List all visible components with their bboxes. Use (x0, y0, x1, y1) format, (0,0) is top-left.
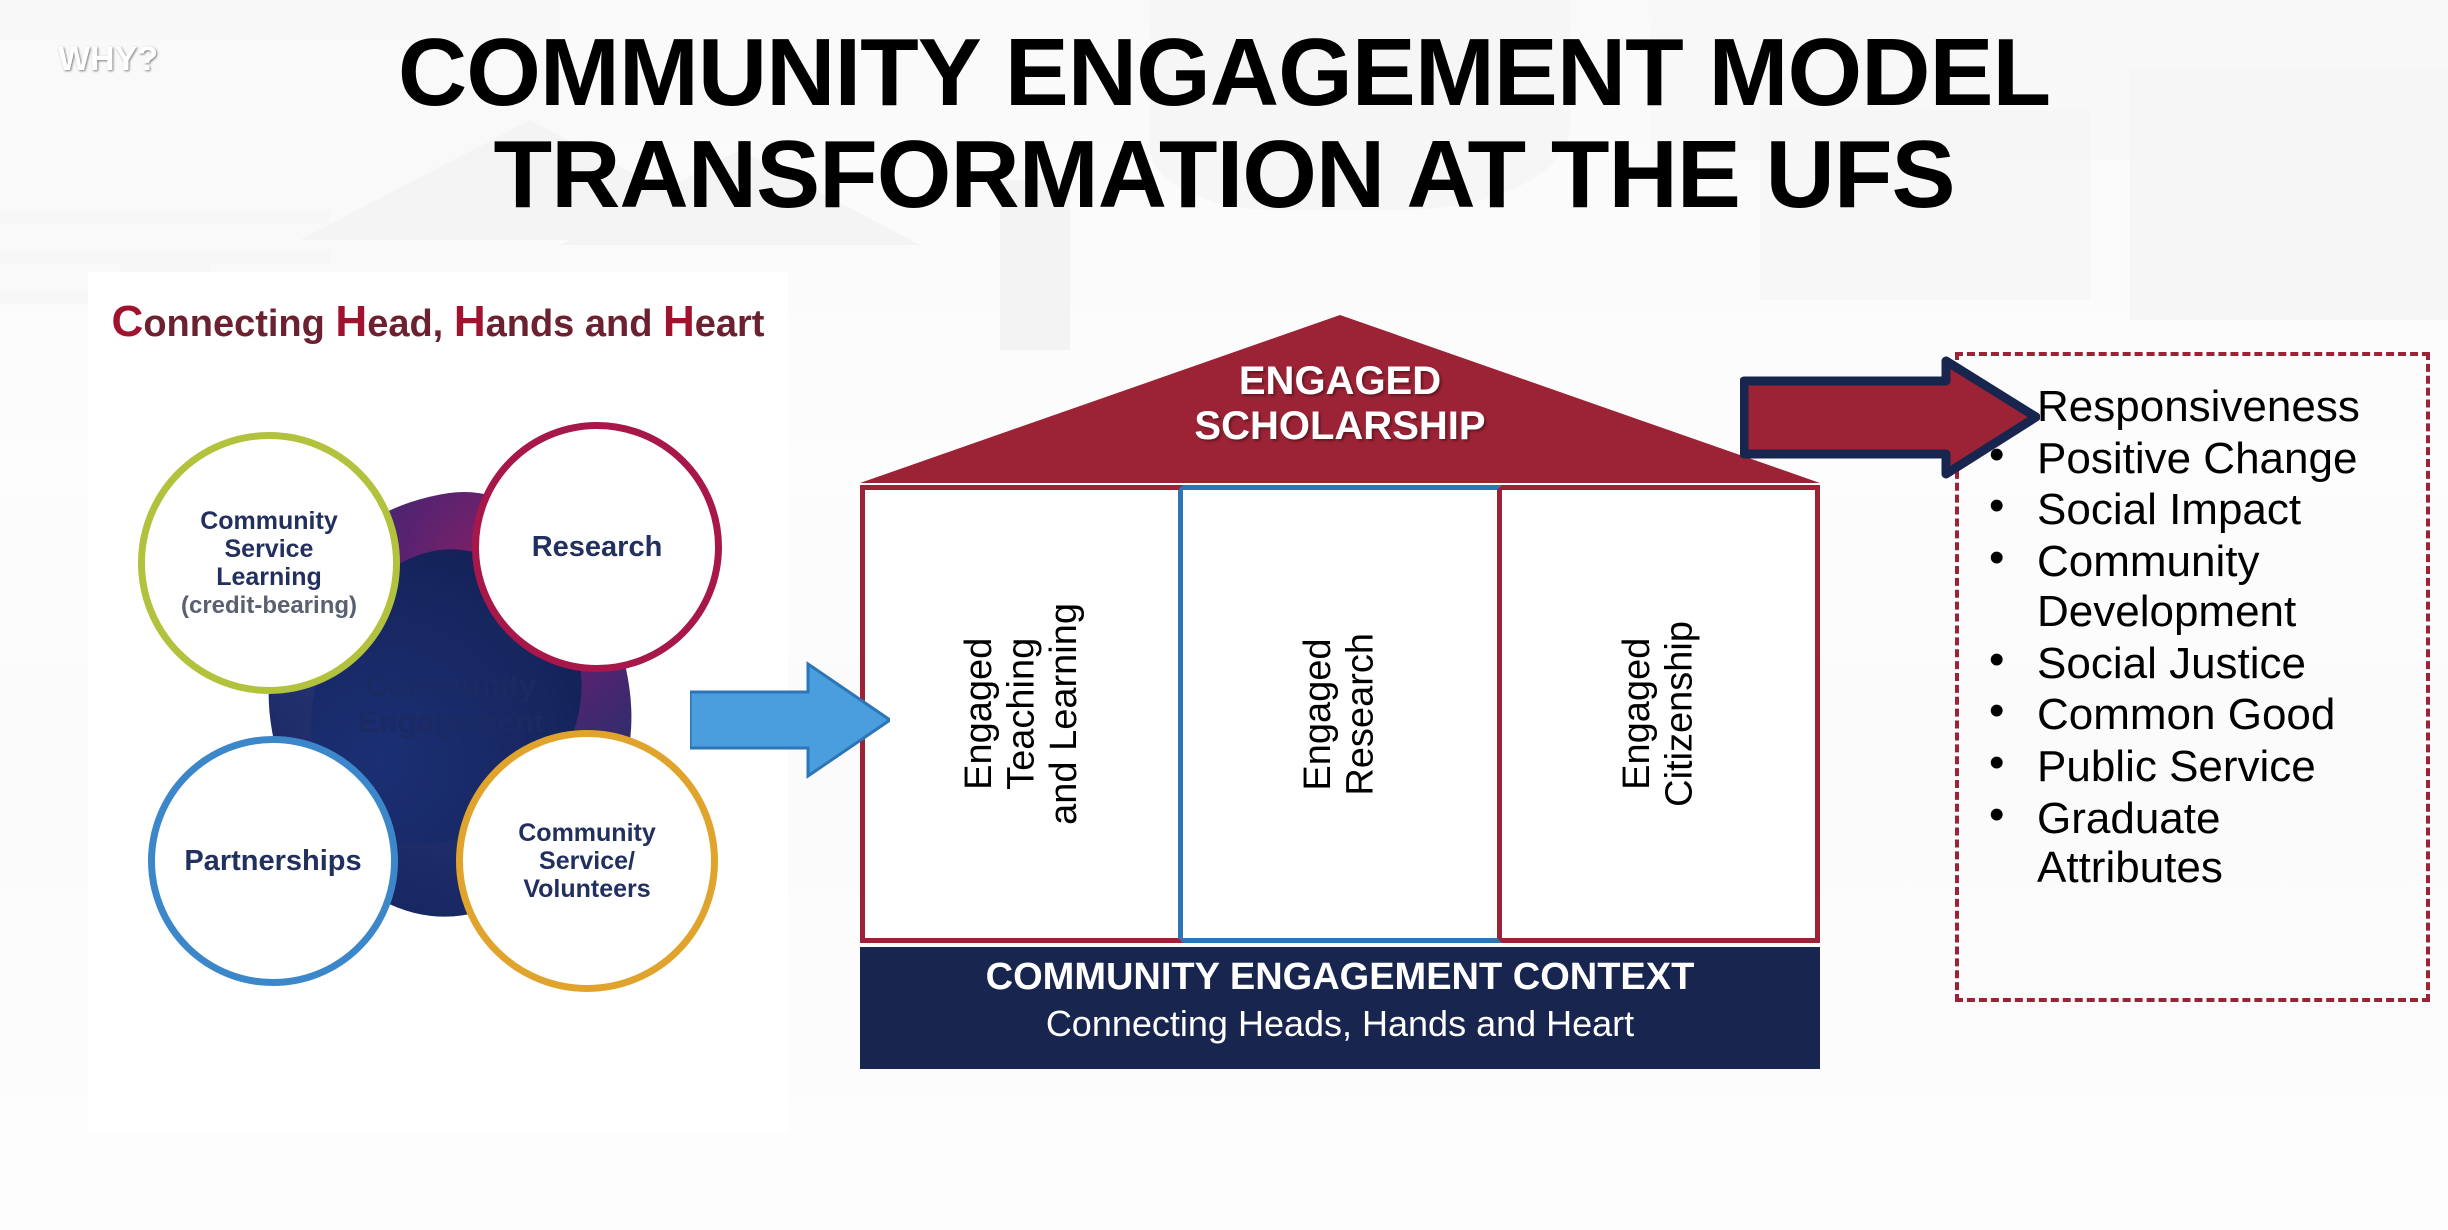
pinwheel-label-partnerships: Partnerships (184, 845, 361, 877)
pillar-engaged-research: Engaged Research (1183, 485, 1501, 943)
pillar-label-engaged-research: Engaged Research (1297, 633, 1382, 796)
page-title: COMMUNITY ENGAGEMENT MODEL TRANSFORMATIO… (0, 22, 2448, 226)
logo-heading-eart: eart (695, 303, 765, 345)
list-item: Community Development (1975, 537, 2416, 636)
logo-heading-ands: ands and (486, 303, 663, 345)
pillar-label-engaged-citizenship: Engaged Citizenship (1616, 621, 1701, 807)
list-item: Social Justice (1975, 639, 2416, 689)
logo-heading-c: C (112, 297, 144, 346)
why-outcomes-list: Responsiveness Positive Change Social Im… (1975, 382, 2416, 893)
house-roof-label: ENGAGED SCHOLARSHIP (860, 359, 1820, 449)
logo-heading: Connecting Head, Hands and Heart (88, 297, 788, 347)
logo-heading-h3: H (663, 297, 695, 346)
engaged-scholarship-house: ENGAGED SCHOLARSHIP Engaged Teaching and… (860, 315, 1820, 1075)
pinwheel-circle-community-service-volunteers: Community Service/ Volunteers (456, 730, 718, 992)
list-item: Public Service (1975, 742, 2416, 792)
pinwheel-centre-label: Community Engagement (268, 668, 634, 740)
pinwheel-circle-community-service-learning: Community Service Learning (credit-beari… (138, 432, 400, 694)
logo-heading-h1: H (335, 297, 367, 346)
community-engagement-logo-panel: Connecting Head, Hands and Heart Communi… (88, 272, 788, 1132)
pillar-label-engaged-teaching-and-learning: Engaged Teaching and Learning (958, 603, 1086, 825)
why-arrow-icon (1740, 355, 2040, 480)
pinwheel-label-community-service-volunteers: Community Service/ Volunteers (518, 819, 656, 903)
house-base-community-engagement-context: COMMUNITY ENGAGEMENT CONTEXT Connecting … (860, 947, 1820, 1069)
pinwheel-sublabel-credit-bearing: (credit-bearing) (181, 592, 357, 619)
pillar-engaged-teaching-and-learning: Engaged Teaching and Learning (860, 485, 1183, 943)
list-item: Positive Change (1975, 434, 2416, 484)
list-item: Responsiveness (1975, 382, 2416, 432)
house-base-subtitle: Connecting Heads, Hands and Heart (860, 1001, 1820, 1046)
transition-arrow-icon (690, 660, 890, 780)
house-base-title: COMMUNITY ENGAGEMENT CONTEXT (860, 955, 1820, 1001)
logo-heading-ead: ead, (367, 303, 454, 345)
page-title-line-2: TRANSFORMATION AT THE UFS (0, 124, 2448, 226)
list-item: Common Good (1975, 690, 2416, 740)
pinwheel-circle-research: Research (472, 422, 722, 672)
pillar-engaged-citizenship: Engaged Citizenship (1502, 485, 1820, 943)
community-engagement-pinwheel: Community Service Learning (credit-beari… (120, 400, 760, 1020)
pinwheel-label-community-service-learning: Community Service Learning (200, 507, 338, 591)
logo-heading-onnecting: onnecting (143, 303, 335, 345)
pinwheel-circle-partnerships: Partnerships (148, 736, 398, 986)
list-item: Graduate Attributes (1975, 794, 2416, 893)
list-item: Social Impact (1975, 485, 2416, 535)
pinwheel-label-research: Research (532, 531, 663, 563)
logo-heading-h2: H (454, 297, 486, 346)
house-pillars: Engaged Teaching and Learning Engaged Re… (860, 485, 1820, 943)
page-title-line-1: COMMUNITY ENGAGEMENT MODEL (0, 22, 2448, 124)
